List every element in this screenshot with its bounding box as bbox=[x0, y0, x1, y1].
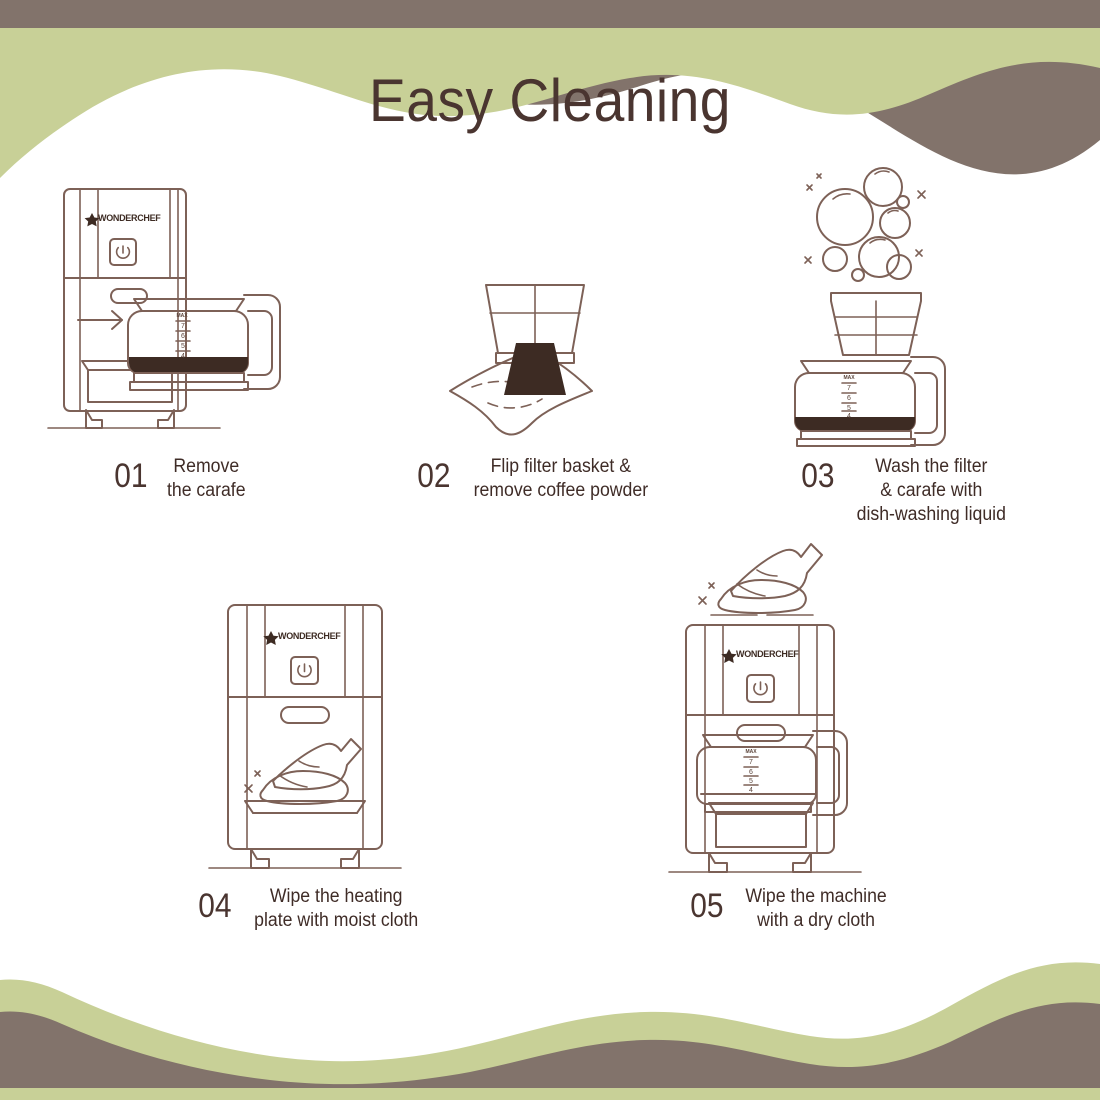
coffee-powder-icon bbox=[504, 343, 566, 395]
arrow-right-icon bbox=[78, 311, 122, 329]
step-01-text: Remove the carafe bbox=[167, 455, 246, 503]
machine-icon bbox=[669, 625, 861, 872]
step-03-text: Wash the filter & carafe with dish-washi… bbox=[856, 455, 1005, 527]
step-01-illustration: WONDERCHEF bbox=[30, 165, 330, 445]
step-04-caption: 04 Wipe the heating plate with moist clo… bbox=[196, 885, 424, 933]
carafe-max-label: MAX bbox=[176, 313, 188, 319]
carafe-icon: MAX 7 6 5 4 bbox=[128, 295, 280, 390]
step-01-number: 01 bbox=[114, 455, 147, 495]
svg-text:4: 4 bbox=[749, 787, 753, 794]
svg-text:4: 4 bbox=[181, 353, 185, 360]
filter-basket-icon bbox=[831, 293, 921, 355]
machine-icon bbox=[209, 605, 401, 868]
svg-text:6: 6 bbox=[181, 333, 185, 340]
step-02-caption: 02 Flip filter basket & remove coffee po… bbox=[415, 455, 654, 503]
machine-icon bbox=[48, 189, 220, 428]
step-03: MAX 7 6 5 4 03 Wash the filter & carafe … bbox=[710, 165, 1100, 527]
wave-brown-bottom bbox=[0, 1002, 1100, 1088]
svg-text:7: 7 bbox=[749, 759, 753, 766]
power-button-icon[interactable] bbox=[291, 657, 318, 684]
svg-text:4: 4 bbox=[847, 413, 851, 420]
carafe-max-label-5: MAX bbox=[745, 749, 757, 755]
carafe-max-label-3: MAX bbox=[843, 375, 855, 381]
carafe-icon: MAX 7 6 5 4 bbox=[795, 357, 945, 446]
step-04-illustration: WONDERCHEF bbox=[195, 575, 425, 875]
steps-row-bottom: WONDERCHEF bbox=[0, 575, 1100, 933]
svg-text:7: 7 bbox=[847, 385, 851, 392]
power-button-icon[interactable] bbox=[747, 675, 774, 702]
step-02-number: 02 bbox=[418, 455, 451, 495]
step-02-text: Flip filter basket & remove coffee powde… bbox=[474, 455, 649, 503]
step-01-caption: 01 Remove the carafe bbox=[112, 455, 248, 503]
bubbles-icon bbox=[817, 168, 911, 281]
brand-logo-text-4: WONDERCHEF bbox=[278, 631, 341, 641]
step-05-caption: 05 Wipe the machine with a dry cloth bbox=[688, 885, 892, 933]
infographic-page: Easy Cleaning bbox=[0, 0, 1100, 1100]
hand-with-cloth-icon bbox=[260, 739, 361, 804]
wave-green-bottom bbox=[0, 962, 1100, 1100]
svg-text:6: 6 bbox=[749, 769, 753, 776]
step-04: WONDERCHEF bbox=[145, 575, 475, 933]
svg-text:5: 5 bbox=[749, 778, 753, 785]
svg-text:5: 5 bbox=[181, 343, 185, 350]
step-04-text: Wipe the heating plate with moist cloth bbox=[254, 885, 418, 933]
step-03-caption: 03 Wash the filter & carafe with dish-wa… bbox=[799, 455, 1011, 527]
carafe-markings-3: 7 6 5 4 bbox=[842, 383, 856, 420]
svg-text:7: 7 bbox=[181, 323, 185, 330]
step-03-illustration: MAX 7 6 5 4 bbox=[775, 165, 1035, 445]
power-button-icon[interactable] bbox=[110, 239, 136, 265]
step-02-illustration bbox=[410, 165, 660, 445]
step-01: WONDERCHEF bbox=[0, 165, 360, 527]
step-05-number: 05 bbox=[690, 885, 723, 925]
hand-with-cloth-icon bbox=[711, 544, 822, 615]
step-05-illustration: WONDERCHEF MAX bbox=[665, 575, 915, 875]
brand-logo-text: WONDERCHEF bbox=[98, 213, 161, 223]
step-05: WONDERCHEF MAX bbox=[625, 575, 955, 933]
step-03-number: 03 bbox=[801, 455, 834, 495]
brand-logo-text-5: WONDERCHEF bbox=[736, 649, 799, 659]
step-04-number: 04 bbox=[198, 885, 231, 925]
page-title: Easy Cleaning bbox=[44, 68, 1056, 134]
bottom-wave-decoration bbox=[0, 920, 1100, 1100]
steps-row-top: WONDERCHEF bbox=[0, 165, 1100, 527]
carafe-markings-5: 7 6 5 4 bbox=[744, 757, 758, 794]
step-05-text: Wipe the machine with a dry cloth bbox=[745, 885, 886, 933]
step-02: 02 Flip filter basket & remove coffee po… bbox=[360, 165, 710, 527]
svg-text:6: 6 bbox=[847, 395, 851, 402]
sparkle-icon bbox=[699, 583, 714, 604]
